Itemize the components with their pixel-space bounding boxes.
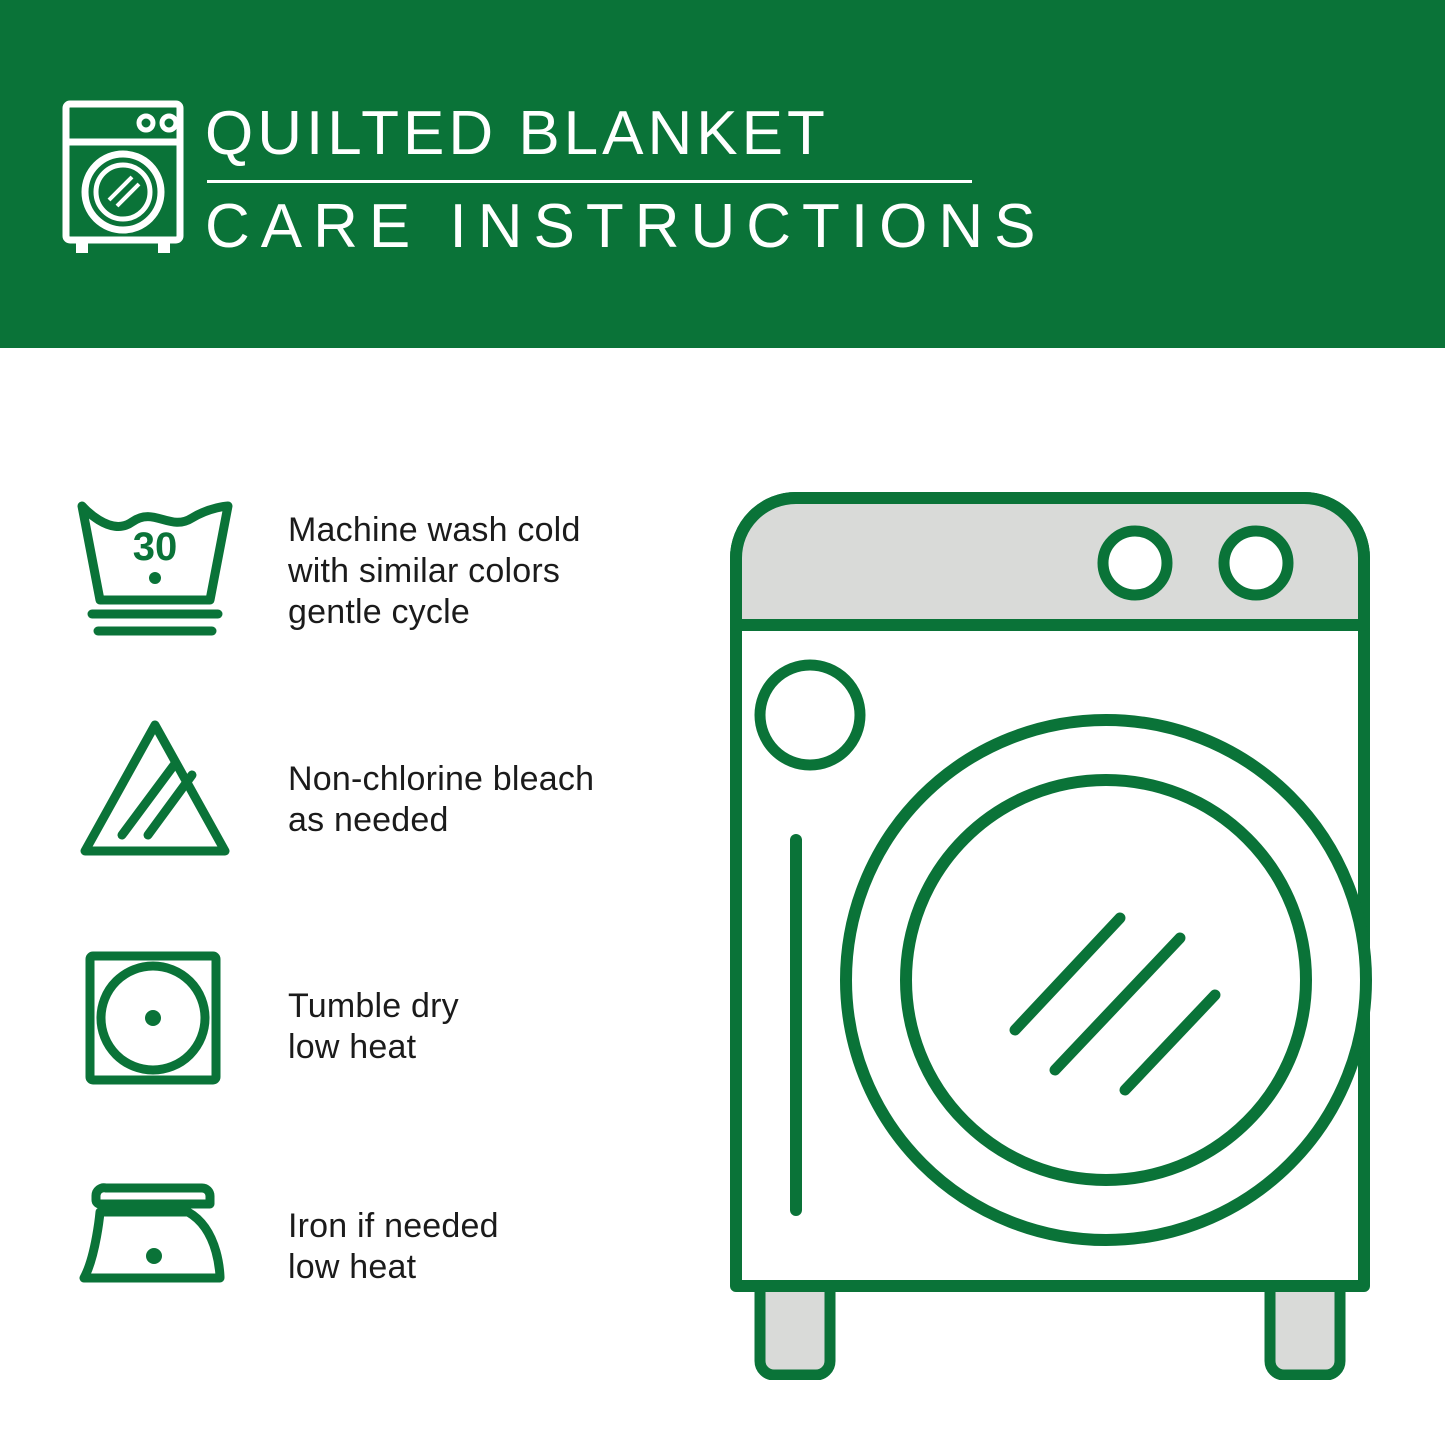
page-title: QUILTED BLANKET: [205, 96, 1046, 172]
title-divider: [207, 180, 972, 183]
triangle-bleach-icon: [70, 713, 240, 873]
wash-tub-30-icon: 30: [70, 488, 240, 648]
header-text-block: QUILTED BLANKET CARE INSTRUCTIONS: [205, 96, 1046, 265]
front-load-washing-machine: [700, 440, 1400, 1380]
header-banner: QUILTED BLANKET CARE INSTRUCTIONS: [0, 0, 1445, 348]
list-item-label: Machine wash cold with similar colors ge…: [288, 510, 581, 633]
instruction-list: 30 Machine wash cold with similar colors…: [0, 348, 700, 1445]
washing-machine-icon: [62, 100, 192, 255]
page-subtitle: CARE INSTRUCTIONS: [205, 189, 1046, 265]
list-item-label: Tumble dry low heat: [288, 986, 459, 1068]
list-item-label: Non-chlorine bleach as needed: [288, 759, 594, 841]
iron-low-heat-icon: [70, 1156, 240, 1316]
care-instructions-page: QUILTED BLANKET CARE INSTRUCTIONS 30 Mac…: [0, 0, 1445, 1445]
tumble-dry-low-icon: [70, 938, 240, 1098]
list-item-label: Iron if needed low heat: [288, 1206, 499, 1288]
svg-text:30: 30: [133, 525, 178, 569]
